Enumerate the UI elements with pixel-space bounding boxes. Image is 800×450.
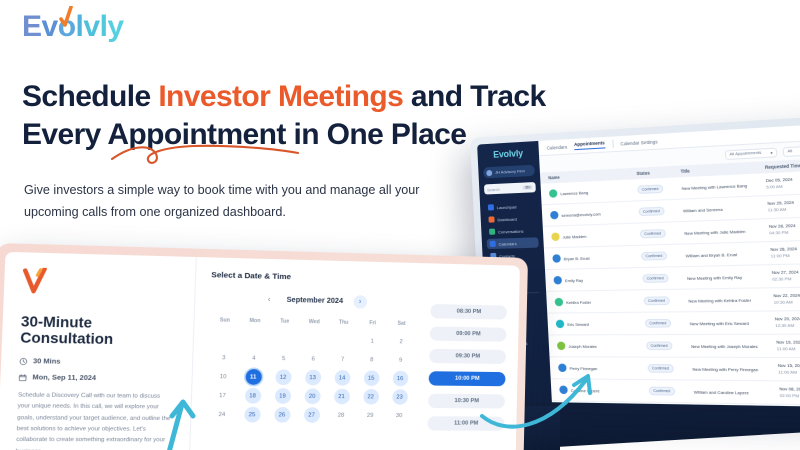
filter-label: All Appointments — [729, 151, 761, 157]
weekday-header: Sat — [387, 320, 416, 332]
booking-date-label: Mon, Sep 11, 2024 — [32, 374, 96, 382]
calendar-day-number: 16 — [392, 371, 408, 387]
calendar-day-19[interactable]: 19 — [267, 387, 297, 405]
avatar — [550, 211, 559, 220]
contact-name: Emily Ray — [565, 277, 583, 283]
calendar-day-number: 10 — [215, 369, 232, 385]
calendar-day-number: 2 — [393, 334, 409, 350]
cell-status: Confirmed — [647, 364, 692, 373]
calendar-header: ‹ September 2024 › — [210, 292, 416, 310]
cell-requested-time: Dec 05, 20245:00 AM — [766, 176, 800, 191]
cell-requested-time: Nov 28, 202404:30 PM — [769, 222, 800, 236]
booking-duration: 30 Mins — [19, 358, 175, 367]
cell-requested-time: Nov 28, 202411:00 PM — [770, 245, 800, 259]
calendar-day-number: 19 — [274, 388, 290, 404]
cell-requested-time: Nov 15, 202411:00 AM — [778, 363, 800, 376]
cell-title: New Meeting with Lawrence Bang — [681, 181, 766, 190]
weekday-header: Sun — [210, 317, 241, 329]
calendar-day-21[interactable]: 21 — [327, 388, 357, 406]
calendar-day-number: 23 — [392, 389, 408, 405]
tab-appointments[interactable]: Appointments — [574, 140, 605, 150]
calendar-day-number: 13 — [305, 370, 321, 386]
logo-letter: E — [22, 10, 42, 43]
cell-requested-time: Nov 29, 202411:30 AM — [767, 199, 800, 214]
cell-name: Joseph Morales — [557, 342, 647, 351]
status-badge: Confirmed — [637, 184, 663, 194]
booking-date: Mon, Sep 11, 2024 — [19, 374, 175, 383]
calendar-day-9: 9 — [386, 351, 415, 369]
orange-v-check-logo-icon — [22, 267, 48, 295]
time-slot-0900pm[interactable]: 09:00 PM — [430, 326, 507, 341]
cell-name: Kehlira Foster — [555, 297, 644, 307]
orange-check-icon — [57, 6, 73, 28]
search-placeholder: Search — [487, 186, 500, 192]
avatar — [551, 233, 560, 242]
contact-name: Bryan B. Erust — [564, 255, 590, 261]
status-badge: Confirmed — [642, 274, 668, 283]
filter-appointments-select[interactable]: All Appointments ▾ — [725, 147, 778, 159]
calendar-day-16[interactable]: 16 — [385, 370, 414, 388]
cell-requested-time: Nov 08, 202402:00 PM — [779, 386, 800, 400]
calendar-day-number: 5 — [275, 351, 291, 367]
status-badge: Confirmed — [647, 364, 673, 373]
requested-time: 04:30 PM — [769, 229, 800, 237]
cell-status: Confirmed — [638, 206, 683, 216]
calendar-day-number: 9 — [393, 352, 409, 368]
requested-time: 10:30 AM — [773, 299, 800, 306]
weekday-header: Wed — [299, 319, 329, 331]
calendar-day-3: 3 — [208, 349, 239, 367]
calendar-day-25[interactable]: 25 — [237, 406, 268, 424]
calendars-icon — [490, 241, 496, 247]
cell-requested-time: Nov 20, 202412:30 AM — [775, 316, 800, 329]
avatar — [553, 276, 562, 284]
status-badge: Confirmed — [649, 387, 675, 396]
calendar-settings-link[interactable]: Calendar Settings — [620, 139, 657, 146]
sidebar-item-label: Dashboard — [497, 216, 517, 222]
calendar-day-number: 6 — [305, 351, 321, 367]
cyan-curved-arrow-icon — [478, 352, 628, 450]
booking-widget: 30-Minute Consultation 30 Mins Mon, Sep … — [0, 243, 528, 450]
cell-status: Confirmed — [642, 273, 687, 282]
cell-requested-time: Nov 19, 202411:00 AM — [776, 339, 800, 352]
calendar-day-number: 7 — [335, 351, 351, 367]
chevron-down-icon: ▾ — [770, 149, 773, 155]
contact-name: Lawrence Bang — [560, 189, 588, 195]
avatar — [549, 189, 558, 198]
contact-name: Joseph Morales — [568, 343, 597, 348]
cell-requested-time: Nov 22, 202410:30 AM — [773, 292, 800, 306]
status-badge: Confirmed — [638, 207, 664, 216]
calendar-day-8: 8 — [357, 351, 386, 369]
avatar — [557, 342, 566, 350]
column-header-status: Status — [636, 169, 680, 176]
weekday-header: Tue — [270, 318, 300, 330]
avatar — [552, 254, 561, 262]
booking-duration-label: 30 Mins — [33, 358, 61, 366]
heading-part-2: and Track — [403, 80, 545, 113]
calendar-day-23[interactable]: 23 — [385, 388, 414, 406]
booking-title: 30-Minute Consultation — [20, 314, 176, 349]
cell-status: Confirmed — [637, 184, 682, 194]
cell-title: New Meeting with Eric Seward — [690, 320, 776, 326]
calendar-day-number: 11 — [245, 369, 262, 385]
calendar-day-number: 15 — [363, 370, 379, 386]
booking-card: 30-Minute Consultation 30 Mins Mon, Sep … — [0, 252, 520, 450]
calendar-day-2: 2 — [386, 333, 415, 351]
picker-title: Select a Date & Time — [211, 270, 417, 284]
calendar-day-28: 28 — [326, 406, 356, 424]
sidebar-item-conversations[interactable]: Conversations — [486, 225, 538, 237]
calendar-day-22[interactable]: 22 — [356, 388, 386, 406]
calendar-day-12[interactable]: 12 — [268, 368, 298, 386]
cell-status: Confirmed — [645, 319, 690, 328]
calendar-day-26[interactable]: 26 — [267, 406, 297, 424]
requested-time: 11:00 AM — [778, 369, 800, 376]
status-badge: Confirmed — [646, 342, 672, 351]
table-row[interactable]: Eric SewardConfirmedNew Meeting with Eri… — [547, 310, 800, 335]
heading-highlight: Investor Meetings — [158, 80, 403, 113]
cell-status: Confirmed — [640, 228, 685, 238]
requested-time: 11:00 AM — [776, 346, 800, 353]
requested-time: 12:30 AM — [775, 322, 800, 329]
heading-part-1: Schedule — [22, 80, 158, 113]
calendar-day-1: 1 — [357, 332, 386, 350]
sidebar-item-label: Conversations — [498, 228, 524, 234]
status-badge: Confirmed — [641, 251, 667, 260]
avatar — [556, 320, 565, 328]
calendar-day-number: 12 — [275, 369, 291, 385]
conversations-icon — [489, 229, 495, 235]
clock-icon — [19, 358, 27, 366]
calendar-day-number: 26 — [274, 407, 290, 423]
calendar-day-number: 28 — [333, 407, 349, 423]
weekday-header: Thu — [329, 319, 359, 331]
status-badge: Confirmed — [644, 296, 670, 305]
calendar-day-number: 8 — [364, 352, 380, 368]
cell-title: William and Bryan B. Erust — [685, 250, 770, 258]
contact-name: Eric Seward — [567, 321, 589, 326]
cell-name: Emily Ray — [553, 274, 642, 284]
calendar-day-number: 14 — [334, 370, 350, 386]
launchpad-icon — [488, 204, 494, 210]
filter-all-select[interactable]: All ▾ — [783, 144, 800, 157]
weekday-header: Mon — [240, 318, 270, 330]
cell-title: New Meeting with Emily Ray — [687, 273, 772, 280]
logo-letter: y — [107, 10, 123, 43]
calendar-day-number: 4 — [246, 350, 263, 366]
calendar-day-29: 29 — [355, 406, 385, 424]
cell-status: Confirmed — [646, 341, 691, 350]
calendar-day-14[interactable]: 14 — [327, 369, 357, 387]
calendar-day-20[interactable]: 20 — [297, 387, 327, 405]
account-name: JH Advisory Firm — [495, 168, 525, 175]
sidebar-item-launchpad[interactable]: Launchpad — [485, 200, 537, 212]
calendar-day-10: 10 — [208, 368, 239, 386]
cell-title: New Meeting with Julie Madden — [684, 227, 769, 235]
calendar-day-number: 21 — [333, 389, 349, 405]
next-month-button[interactable]: › — [353, 295, 367, 309]
sidebar-search-input[interactable]: Search ⌘K — [484, 182, 536, 195]
tab-calendars[interactable]: Calendars — [547, 144, 568, 150]
cell-requested-time: Nov 27, 202402:30 PM — [772, 269, 800, 283]
calendar-day-7: 7 — [328, 350, 358, 368]
requested-time: 02:00 PM — [779, 393, 800, 400]
requested-time: 5:00 AM — [766, 182, 800, 190]
logo-letter: v — [42, 12, 58, 42]
calendar-day-5: 5 — [268, 349, 298, 367]
cell-name: Julie Madden — [551, 230, 640, 241]
account-chip[interactable]: JH Advisory Firm — [483, 165, 535, 179]
search-shortcut: ⌘K — [523, 185, 533, 190]
requested-time: 11:30 AM — [768, 205, 800, 213]
sidebar-item-label: Launchpad — [497, 204, 517, 210]
calendar-day-number: 30 — [391, 408, 407, 424]
status-badge: Confirmed — [645, 319, 671, 328]
calendar-day-number: 20 — [304, 388, 320, 404]
orange-swoosh-underline-icon — [110, 140, 300, 172]
calendar-day-number: 25 — [244, 407, 261, 423]
calendar-day-number: 27 — [303, 407, 319, 423]
calendar-day-18[interactable]: 18 — [237, 387, 268, 405]
calendar-day-15[interactable]: 15 — [356, 369, 385, 387]
calendar-day-number: 1 — [364, 333, 380, 349]
cell-title: William and Caroline Lapere — [694, 389, 780, 396]
sidebar-item-calendars[interactable]: Calendars — [487, 237, 539, 249]
cell-name: Eric Seward — [556, 319, 646, 328]
calendar-day-6: 6 — [298, 350, 328, 368]
contact-name: sereena@evolvly.com — [561, 211, 601, 218]
requested-time: 02:30 PM — [772, 275, 800, 282]
requested-time: 11:00 PM — [770, 252, 800, 260]
cell-title: William and Sereena — [683, 204, 768, 213]
time-slot-0830pm[interactable]: 08:30 PM — [430, 304, 507, 320]
cell-status: Confirmed — [649, 387, 694, 396]
prev-month-button[interactable]: ‹ — [262, 293, 276, 307]
calendar-day-number: 29 — [362, 408, 378, 424]
cyan-arrow-icon — [148, 398, 238, 450]
column-header-requested-time: Requested Time — [765, 162, 800, 170]
calendar-day-number: 22 — [363, 389, 379, 405]
calendar-icon — [19, 374, 27, 382]
page-subtitle: Give investors a simple way to book time… — [24, 180, 454, 223]
tab-divider — [612, 140, 614, 148]
cell-title: New Meeting with Kehlira Foster — [688, 297, 773, 304]
calendar-month-label: September 2024 — [287, 297, 344, 305]
account-avatar — [486, 169, 492, 175]
calendar-day-number: 3 — [215, 350, 232, 366]
brand-logo: Evolvly — [22, 12, 124, 42]
weekday-header: Fri — [358, 320, 387, 332]
calendar-day-number: 18 — [244, 388, 261, 404]
avatar — [555, 298, 564, 306]
contact-name: Kehlira Foster — [566, 299, 591, 305]
cell-status: Confirmed — [644, 296, 689, 305]
cell-name: sereena@evolvly.com — [550, 208, 639, 220]
status-badge: Confirmed — [640, 229, 666, 238]
calendar-day-4: 4 — [238, 349, 269, 367]
booking-frame: 30-Minute Consultation 30 Mins Mon, Sep … — [0, 243, 528, 450]
calendar-day-11[interactable]: 11 — [238, 368, 269, 386]
sidebar-item-label: Calendars — [499, 241, 517, 247]
dashboard-icon — [488, 216, 494, 222]
calendar-day-27[interactable]: 27 — [296, 406, 326, 424]
sidebar-logo: Evolvly — [482, 147, 534, 160]
cell-title: New Meeting with Perry Finnegan — [692, 366, 778, 372]
column-header-title: Title — [680, 165, 765, 174]
calendar-day-13[interactable]: 13 — [298, 369, 328, 387]
cell-status: Confirmed — [641, 251, 686, 261]
cell-name: Lawrence Bang — [549, 186, 638, 198]
cell-name: Bryan B. Erust — [552, 252, 641, 263]
cell-title: New Meeting with Joseph Morales — [691, 343, 777, 349]
sidebar-item-dashboard[interactable]: Dashboard — [485, 213, 537, 225]
filter-label: All — [787, 149, 792, 154]
logo-letter: v — [83, 10, 99, 43]
contact-name: Julie Madden — [562, 233, 586, 239]
calendar-day-30: 30 — [384, 407, 413, 425]
